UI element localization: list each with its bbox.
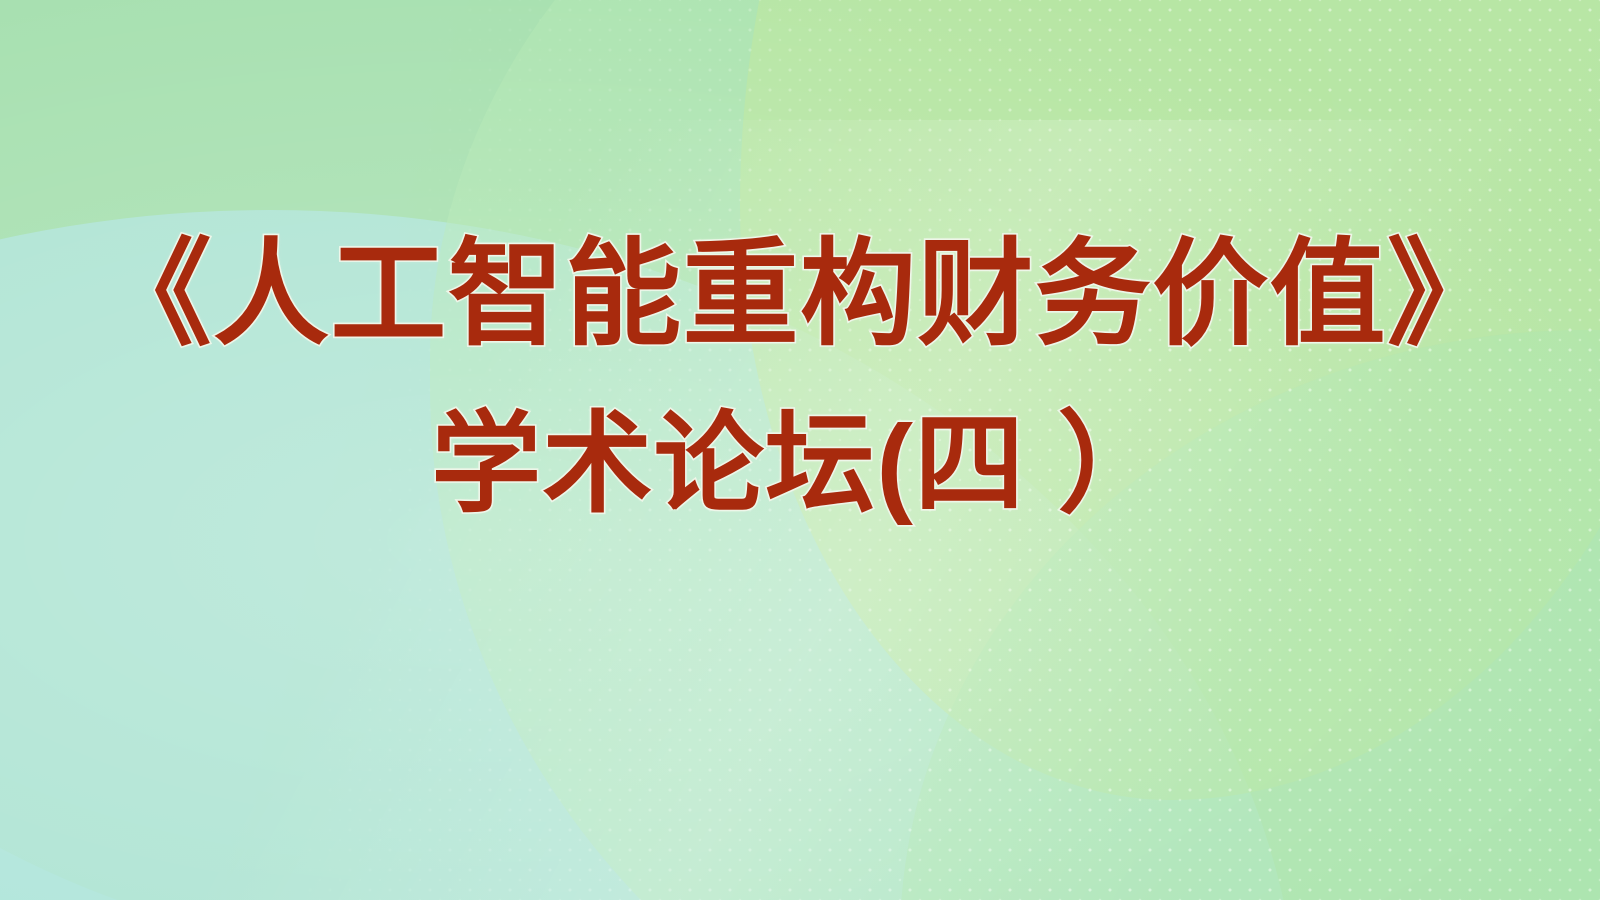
title-slide: 《人工智能重构财务价值》 学术论坛(四 ） <box>0 0 1600 900</box>
title-line-primary: 《人工智能重构财务价值》 <box>0 236 1600 352</box>
title-line-secondary: 学术论坛(四 ） <box>0 410 1600 520</box>
page-title: 《人工智能重构财务价值》 学术论坛(四 ） <box>0 236 1600 520</box>
